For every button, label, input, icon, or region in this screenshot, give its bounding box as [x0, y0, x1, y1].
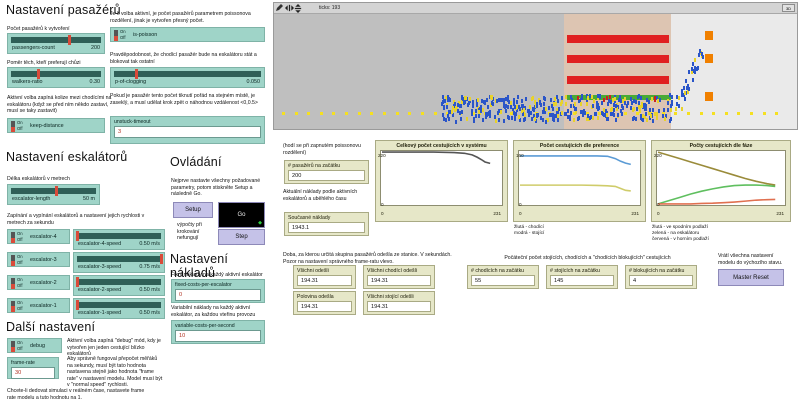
slider-value: 0.30: [90, 79, 101, 85]
passenger-agent: [685, 79, 687, 83]
passenger-agent: [635, 100, 637, 104]
passenger-agent: [521, 99, 523, 103]
switch-knob-base: [11, 127, 15, 132]
passenger-agent: [484, 100, 486, 104]
passenger-agent: [565, 95, 567, 99]
plot-title: Celkový počet cestujících v systému: [376, 141, 507, 150]
passenger-agent: [442, 100, 444, 104]
input-fixed-costs-per-escalator[interactable]: fixed-costs-per-escalator 0: [171, 279, 265, 303]
passenger-agent: [482, 118, 484, 122]
switch-onoff-labels: On Off: [17, 340, 23, 351]
switch-knob-base: [11, 238, 15, 243]
switch-onoff-labels: On Off: [17, 300, 23, 311]
passenger-agent: [621, 112, 623, 116]
passenger-agent: [505, 109, 507, 113]
passenger-agent: [692, 78, 694, 82]
go-button[interactable]: Go ◆: [218, 202, 265, 228]
passenger-agent: [518, 115, 520, 119]
passenger-agent: [505, 104, 507, 108]
plot3-legend: žlutá - ve spodním podlaží zelená - na e…: [652, 225, 709, 243]
passenger-agent: [496, 99, 498, 103]
passenger-agent: [637, 95, 639, 99]
passenger-agent: [594, 112, 596, 116]
escalator-band-4: [567, 35, 669, 43]
passenger-agent: [649, 108, 651, 112]
edit-icon[interactable]: [276, 4, 284, 12]
passenger-agent: [527, 109, 529, 113]
variable-costs-hint: Variabilní náklady na každý aktivní eska…: [171, 305, 266, 318]
master-reset-button[interactable]: Master Reset: [718, 269, 784, 286]
slider-thumb[interactable]: [68, 35, 71, 45]
passenger-agent: [696, 67, 698, 71]
floor-marker-dot: [358, 112, 361, 115]
plot-canvas: [380, 150, 503, 206]
monitor-value: 194.31: [367, 301, 431, 312]
floor-marker-dot: [763, 112, 766, 115]
passenger-agent: [641, 102, 643, 106]
passenger-agent: [465, 96, 467, 100]
step-button[interactable]: Step: [218, 229, 265, 245]
passenger-agent: [612, 112, 614, 116]
switch-onoff-labels: On Off: [17, 254, 23, 265]
monitor-all-standers-left: Všichni stojící odešli 194.31: [363, 291, 435, 315]
passenger-agent: [697, 66, 699, 70]
passenger-agent: [539, 101, 541, 105]
slider-track: [77, 302, 161, 308]
passenger-agent: [443, 106, 445, 110]
settings-panel: Nastavení pasažérů Počet pasažérů k vytv…: [0, 0, 270, 406]
floor-marker-dot: [396, 112, 399, 115]
realtime-hint: Chcete-li dedovat simulaci v reálném čas…: [7, 388, 152, 401]
slider-thumb[interactable]: [55, 186, 58, 196]
passenger-agent: [445, 118, 447, 122]
switch-escalator-4[interactable]: On Off escalator-4: [7, 229, 70, 244]
slider-label: escalator-3-speed: [78, 264, 121, 270]
passenger-agent: [556, 95, 558, 99]
passenger-agent: [477, 98, 479, 102]
switch-name: escalator-1: [30, 303, 57, 309]
passenger-agent: [659, 98, 661, 102]
slider-p-of-clogging[interactable]: p-of-clogging 0.050: [110, 67, 265, 88]
passenger-agent: [694, 58, 696, 62]
passenger-agent: [468, 101, 470, 105]
floor-marker-dot: [295, 112, 298, 115]
passenger-agent: [525, 97, 527, 101]
go-button-label: Go: [237, 212, 245, 218]
passenger-agent: [650, 114, 652, 118]
slider-track: [77, 256, 161, 262]
monitor-current-costs: Současné náklady 1943.1: [284, 212, 369, 236]
passenger-agent: [472, 104, 474, 108]
exit-box-1: [705, 31, 713, 40]
slider-thumb[interactable]: [76, 231, 79, 241]
switch-off-label: Off: [17, 126, 23, 131]
passenger-agent: [530, 111, 532, 115]
passenger-agent: [606, 113, 608, 117]
floor-marker-dot: [345, 112, 348, 115]
slider-thumb[interactable]: [135, 69, 138, 79]
passenger-agent: [557, 118, 559, 122]
passenger-agent: [452, 106, 454, 110]
floor-marker-dot: [750, 112, 753, 115]
switch-knob-base: [114, 36, 118, 41]
passenger-agent: [587, 114, 589, 118]
switch-is-poisson[interactable]: On Off is-poisson: [110, 27, 265, 42]
monitor-value: 1943.1: [288, 222, 365, 233]
slider-thumb[interactable]: [160, 254, 163, 264]
passenger-agent: [524, 113, 526, 117]
setup-button[interactable]: Setup: [173, 202, 213, 218]
passenger-agent: [511, 116, 513, 120]
is-poisson-hint: Je-li volba aktivní, je počet pasažérů p…: [110, 11, 265, 24]
monitor-label: Všichni odešli: [294, 266, 355, 275]
passenger-agent: [670, 104, 672, 108]
slider-thumb[interactable]: [37, 69, 40, 79]
switch-name: escalator-4: [30, 234, 57, 240]
floor-marker-dot: [687, 112, 690, 115]
slider-value: 0.050: [247, 79, 261, 85]
slider-label: escalator-1-speed: [78, 310, 121, 316]
horizontal-resize-icon[interactable]: [285, 4, 293, 12]
switch-debug[interactable]: On Off debug: [7, 338, 62, 353]
passenger-agent: [553, 114, 555, 118]
passenger-agent: [670, 108, 672, 112]
passenger-agent: [645, 112, 647, 116]
plot-y-max: 220: [654, 153, 662, 158]
plot-x-max: 231: [493, 211, 501, 216]
slider-track: [77, 233, 161, 239]
slider-value: 200: [91, 45, 100, 51]
unstuck-timeout-hint: Pokud je pasažér tento počet tiknutí poř…: [110, 93, 265, 106]
passenger-agent: [657, 99, 659, 103]
debug-hint: Aktivní volba zapíná "debug" mód, kdy je…: [67, 338, 162, 358]
passenger-agent: [587, 96, 589, 100]
passenger-agent: [654, 112, 656, 116]
passenger-agent: [497, 111, 499, 115]
passenger-agent: [669, 119, 671, 123]
passenger-agent: [565, 112, 567, 116]
slider-track: [77, 279, 161, 285]
monitor-value: 194.31: [297, 275, 352, 286]
switch-off-label: Off: [120, 35, 126, 40]
passenger-agent: [494, 115, 496, 119]
passenger-agent: [532, 107, 534, 111]
passenger-agent: [592, 104, 594, 108]
passenger-agent: [671, 95, 673, 99]
passenger-agent: [488, 111, 490, 115]
plot-passengers-by-phase: Počty cestujících dle fáze 220 0 0 231: [651, 140, 791, 222]
monitor-value: 4: [629, 275, 693, 286]
passenger-agent: [560, 102, 562, 106]
monitor-label: Polovina odešla: [294, 292, 355, 301]
passenger-agent: [543, 102, 545, 106]
passenger-agent: [498, 118, 500, 122]
passenger-agent: [658, 109, 660, 113]
passenger-agent: [536, 113, 538, 117]
switch-escalator-1[interactable]: On Off escalator-1: [7, 298, 70, 313]
passenger-agent: [610, 100, 612, 104]
switch-escalator-2[interactable]: On Off escalator-2: [7, 275, 70, 290]
switch-name: keep-distance: [30, 123, 64, 129]
passenger-agent: [678, 96, 680, 100]
monitor-label: # chodících na začátku: [468, 266, 538, 275]
plot-x-max: 231: [631, 211, 639, 216]
escalator-speed-hint: Zapínání a vypínání eskalátorů a nastave…: [7, 213, 162, 226]
passenger-agent: [514, 117, 516, 121]
passenger-agent: [481, 99, 483, 103]
monitor-label: Současné náklady: [285, 213, 368, 222]
passenger-agent: [614, 97, 616, 101]
switch-off-label: Off: [17, 237, 23, 242]
slider-track: [11, 188, 96, 194]
monitor-value: 55: [471, 275, 535, 286]
plot2-legend: žlutá - chodící modrá - stojící: [514, 225, 544, 237]
slider-value: 0.50 m/s: [139, 310, 160, 316]
passenger-agent: [554, 97, 556, 101]
input-field[interactable]: 3: [114, 126, 261, 138]
passenger-agent: [555, 102, 557, 106]
switch-off-label: Off: [17, 306, 23, 311]
floor-marker-dot: [383, 112, 386, 115]
running-indicator-icon: ◆: [258, 221, 262, 226]
floor-marker-dot: [307, 112, 310, 115]
passenger-agent: [601, 111, 603, 115]
escalator-length-hint: Délka eskalátorů v metrech: [7, 176, 70, 183]
monitor-value: 194.31: [367, 275, 431, 286]
monitor-value: 145: [550, 275, 614, 286]
control-section-title: Ovládání: [170, 155, 222, 169]
slider-escalator-2-speed[interactable]: escalator-2-speed 0.50 m/s: [73, 275, 165, 296]
slider-escalator-4-speed[interactable]: escalator-4-speed 0.50 m/s: [73, 229, 165, 250]
passenger-agent: [482, 108, 484, 112]
plot-x-min: 0: [657, 211, 660, 216]
passenger-agent: [681, 107, 683, 111]
passenger-agent: [575, 107, 577, 111]
plot-x-max: 231: [776, 211, 784, 216]
switch-escalator-3[interactable]: On Off escalator-3: [7, 252, 70, 267]
monitor-all-left: Všichni odešli 194.31: [293, 265, 356, 289]
exit-box-2: [705, 54, 713, 63]
passenger-agent: [500, 110, 502, 114]
passenger-agent: [601, 101, 603, 105]
input-field[interactable]: 30: [11, 367, 55, 379]
passenger-agent: [542, 118, 544, 122]
passenger-agent: [473, 119, 475, 123]
passenger-agent: [543, 107, 545, 111]
switch-onoff-labels: On Off: [17, 277, 23, 288]
passenger-agent: [652, 119, 654, 123]
passenger-agent: [570, 104, 572, 108]
switch-on-label: On: [17, 300, 23, 305]
world-canvas[interactable]: [274, 14, 797, 129]
monitor-label: # blokujících na začátku: [626, 266, 696, 275]
passenger-agent: [611, 107, 613, 111]
passenger-agent: [582, 113, 584, 117]
passenger-agent: [640, 96, 642, 100]
passengers-count-hint: Počet pasažérů k vytvoření: [7, 26, 117, 33]
input-field[interactable]: 0: [175, 289, 261, 301]
passenger-agent: [632, 117, 634, 121]
slider-thumb[interactable]: [76, 277, 79, 287]
passenger-agent: [487, 105, 489, 109]
escalators-section-title: Nastavení eskalátorů: [6, 150, 127, 164]
passenger-agent: [633, 99, 635, 103]
input-label: frame-rate: [8, 358, 58, 367]
passenger-agent: [573, 118, 575, 122]
passenger-agent: [510, 101, 512, 105]
monitor-label: # stojících na začátku: [547, 266, 617, 275]
passenger-agent: [557, 114, 559, 118]
input-field[interactable]: 10: [175, 330, 261, 342]
slider-walkers-ratio[interactable]: walkers-ratio 0.30: [7, 67, 105, 88]
passenger-agent: [447, 114, 449, 118]
slider-label: escalator-4-speed: [78, 241, 121, 247]
slider-passengers-count[interactable]: passengers-count 200: [7, 33, 105, 54]
passenger-agent: [580, 102, 582, 106]
passenger-agent: [675, 107, 677, 111]
monitor-initial-blockers: # blokujících na začátku 4: [625, 265, 697, 289]
view-3d-button[interactable]: 3D: [782, 4, 795, 12]
slider-value: 0.50 m/s: [139, 287, 160, 293]
passenger-agent: [478, 114, 480, 118]
passenger-agent: [529, 105, 531, 109]
floor-marker-dot: [712, 112, 715, 115]
vertical-resize-icon[interactable]: [294, 4, 302, 12]
passenger-agent: [466, 117, 468, 121]
slider-escalator-length[interactable]: escalator-length 50 m: [7, 184, 100, 205]
slider-escalator-1-speed[interactable]: escalator-1-speed 0.50 m/s: [73, 298, 165, 319]
passenger-agent: [490, 95, 492, 99]
passenger-agent: [455, 106, 457, 110]
passenger-agent: [571, 98, 573, 102]
passenger-agent: [681, 89, 683, 93]
passenger-agent: [570, 111, 572, 115]
switch-on-label: On: [17, 254, 23, 259]
switch-knob-base: [11, 284, 15, 289]
passenger-agent: [447, 95, 449, 99]
passenger-agent: [548, 106, 550, 110]
passenger-agent: [446, 105, 448, 109]
switch-off-label: Off: [17, 283, 23, 288]
keep-distance-hint: Aktivní volba zapíná kolize mezi chodící…: [7, 95, 112, 115]
passenger-agent: [523, 118, 525, 122]
switch-on-label: On: [120, 29, 126, 34]
monitor-start-passengers: # pasažérů na začátku 200: [284, 160, 369, 184]
passenger-agent: [561, 96, 563, 100]
monitor-value: 194.31: [297, 301, 352, 312]
passenger-agent: [645, 104, 647, 108]
passenger-agent: [495, 119, 497, 123]
switch-knob-base: [11, 261, 15, 266]
passenger-agent: [471, 109, 473, 113]
switch-off-label: Off: [17, 346, 23, 351]
passenger-agent: [610, 112, 612, 116]
passenger-agent: [558, 107, 560, 111]
switch-name: escalator-2: [30, 280, 57, 286]
switch-name: debug: [30, 343, 45, 349]
plot-passengers-by-preference: Počet cestujících dle preference 160 0 0…: [513, 140, 646, 222]
plot-x-min: 0: [519, 211, 522, 216]
passenger-agent: [639, 109, 641, 113]
floor-marker-dot: [434, 112, 437, 115]
monitor-initial-walkers: # chodících na začátku 55: [467, 265, 539, 289]
slider-escalator-3-speed[interactable]: escalator-3-speed 0.75 m/s: [73, 252, 165, 273]
slider-label: escalator-length: [12, 196, 50, 202]
input-frame-rate[interactable]: frame-rate 30: [7, 357, 59, 379]
other-section-title: Další nastavení: [6, 320, 95, 334]
floor-marker-dot: [775, 112, 778, 115]
slider-value: 0.50 m/s: [139, 241, 160, 247]
switch-off-label: Off: [17, 260, 23, 265]
floor-marker-dot: [282, 112, 285, 115]
passenger-agent: [694, 66, 696, 70]
switch-keep-distance[interactable]: On Off keep-distance: [7, 118, 105, 133]
passenger-agent: [507, 98, 509, 102]
escalator-band-2: [567, 76, 669, 84]
switch-onoff-labels: On Off: [17, 231, 23, 242]
initial-counts-note: Počáteční počet stojících, chodících a "…: [480, 255, 695, 262]
switch-on-label: On: [17, 120, 23, 125]
passenger-agent: [618, 98, 620, 102]
input-unstuck-timeout[interactable]: unstuck-timeout 3: [110, 116, 265, 144]
plot-title: Počet cestujících dle preference: [514, 141, 645, 150]
passenger-agent: [592, 116, 594, 120]
floor-marker-dot: [320, 112, 323, 115]
slider-label: walkers-ratio: [12, 79, 43, 85]
passenger-agent: [664, 117, 666, 121]
passenger-agent: [609, 95, 611, 99]
passenger-agent: [475, 114, 477, 118]
view-toolbar: ticks: 193 3D: [274, 3, 797, 14]
passenger-agent: [518, 105, 520, 109]
passenger-agent: [442, 113, 444, 117]
passenger-agent: [577, 96, 579, 100]
switch-on-label: On: [17, 231, 23, 236]
monitor-label: Všichni chodící odešli: [364, 266, 434, 275]
switch-onoff-labels: On Off: [17, 120, 23, 131]
passenger-agent: [624, 101, 626, 105]
world-view[interactable]: ticks: 193 3D: [273, 2, 798, 130]
plot-y-min: 0: [519, 202, 522, 207]
master-reset-note: Vrátí všechna nastavení modelu do výchoz…: [718, 253, 790, 266]
passenger-agent: [547, 118, 549, 122]
passenger-agent: [513, 111, 515, 115]
exit-box-3: [705, 92, 713, 101]
passenger-agent: [667, 108, 669, 112]
passenger-agent: [615, 104, 617, 108]
plot-x-min: 0: [381, 211, 384, 216]
passenger-agent: [617, 113, 619, 117]
monitor-label: Všichni stojící odešli: [364, 292, 434, 301]
passenger-agent: [595, 112, 597, 116]
passenger-agent: [651, 97, 653, 101]
passenger-agent: [552, 107, 554, 111]
passenger-agent: [688, 70, 690, 74]
passenger-agent: [442, 95, 444, 99]
passenger-agent: [457, 103, 459, 107]
fixed-costs-hint: Fixní náklady na každý aktivní eskalátor: [171, 272, 266, 279]
passenger-agent: [656, 116, 658, 120]
switch-name: escalator-3: [30, 257, 57, 263]
input-variable-costs-per-second[interactable]: variable-costs-per-second 10: [171, 320, 265, 344]
passenger-agent: [648, 100, 650, 104]
passenger-agent: [574, 102, 576, 106]
slider-label: passengers-count: [12, 45, 55, 51]
plot-y-max: 160: [516, 153, 524, 158]
passenger-agent: [460, 117, 462, 121]
slider-thumb[interactable]: [76, 300, 79, 310]
monitor-value: 200: [288, 170, 365, 181]
